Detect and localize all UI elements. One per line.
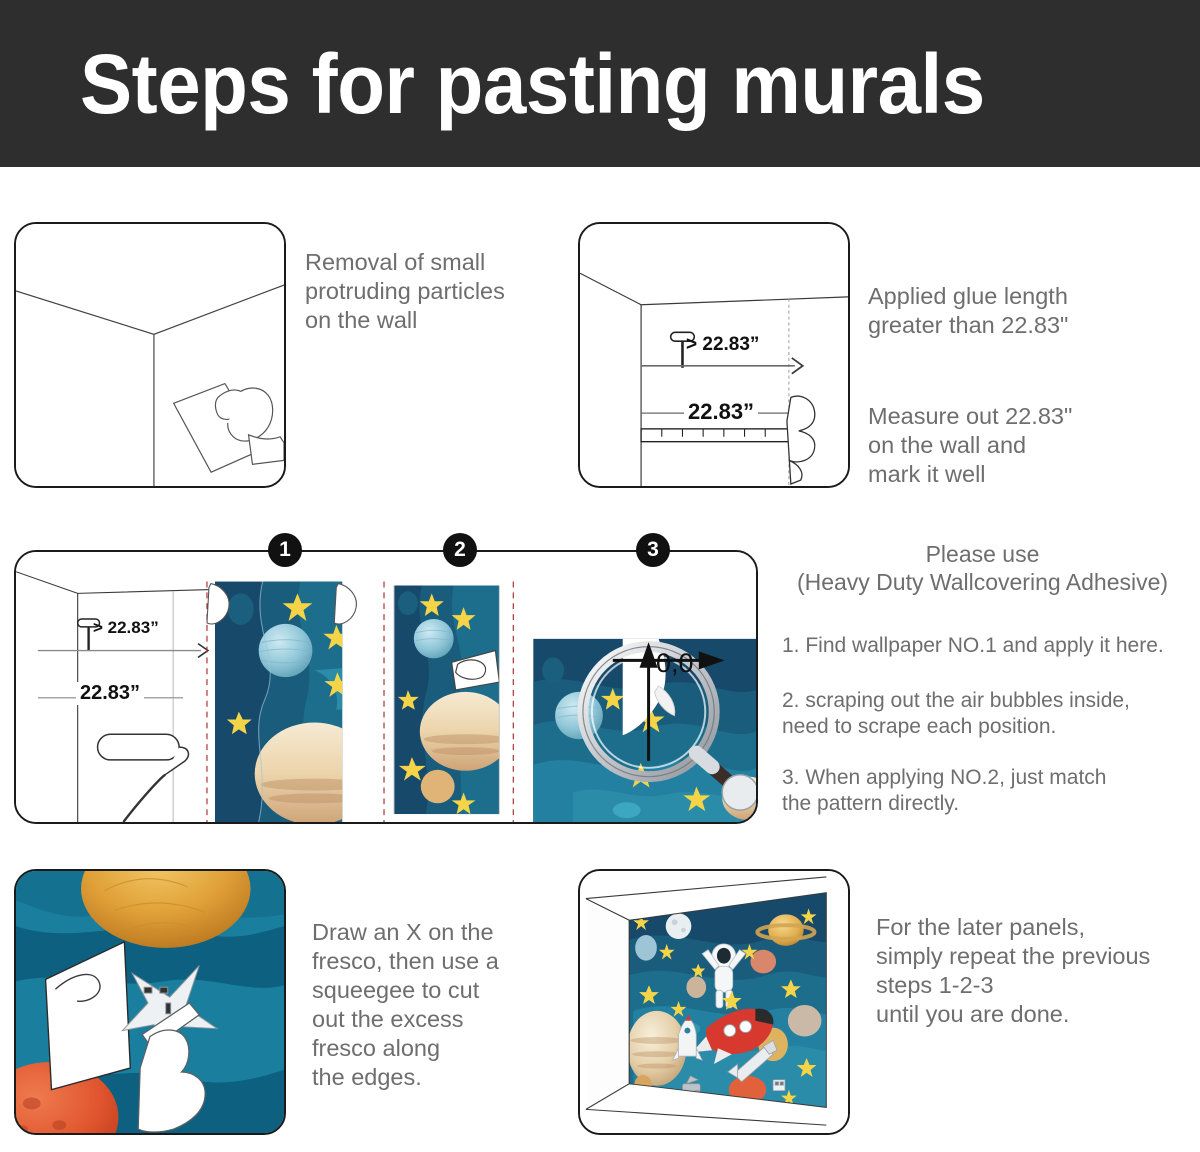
adhesive-heading: Please use (Heavy Duty Wallcovering Adhe… bbox=[770, 540, 1195, 596]
panel-three-steps: > 22.83” 22.83” 0,0 bbox=[14, 550, 758, 824]
adhesive-step-2: 2. scraping out the air bubbles inside, … bbox=[782, 688, 1192, 740]
panel-glue-caption-bottom: Measure out 22.83" on the wall and mark … bbox=[868, 402, 1188, 489]
panel-wall-prep-caption: Removal of small protruding particles on… bbox=[305, 248, 565, 335]
satellite-icon bbox=[773, 1080, 785, 1091]
steps-glue-length-label: > 22.83” bbox=[93, 618, 159, 638]
panel-glue-caption-top: Applied glue length greater than 22.83" bbox=[868, 282, 1188, 340]
ruler-icon bbox=[641, 429, 789, 442]
panel-repeat-steps bbox=[578, 869, 850, 1135]
step-badge-3: 3 bbox=[636, 533, 670, 567]
adhesive-step-1: 1. Find wallpaper NO.1 and apply it here… bbox=[782, 633, 1192, 659]
panel-trim-edges bbox=[14, 869, 286, 1135]
panel-wall-prep bbox=[14, 222, 286, 488]
finished-mural-room-icon bbox=[580, 871, 848, 1133]
panel-trim-caption: Draw an X on the fresco, then use a sque… bbox=[312, 918, 582, 1092]
mural-strip-2 bbox=[394, 586, 511, 815]
page-title: Steps for pasting murals bbox=[80, 36, 1066, 132]
step-badge-2: 2 bbox=[443, 533, 477, 567]
steps-measure-label: 22.83” bbox=[76, 682, 144, 705]
wall-corner-drawing bbox=[16, 224, 284, 486]
panel-repeat-caption: For the later panels, simply repeat the … bbox=[876, 913, 1200, 1029]
origin-label: 0,0 bbox=[656, 648, 694, 679]
panel-glue-measure: > 22.83” 22.83” bbox=[578, 222, 850, 488]
infographic-page: Steps for pasting murals Removal of smal… bbox=[0, 0, 1200, 1152]
step-badge-1: 1 bbox=[268, 533, 302, 567]
adhesive-step-3: 3. When applying NO.2, just match the pa… bbox=[782, 765, 1192, 817]
trim-drawing bbox=[16, 871, 284, 1133]
glue-length-label: > 22.83” bbox=[686, 334, 759, 356]
measure-length-label: 22.83” bbox=[684, 399, 758, 425]
